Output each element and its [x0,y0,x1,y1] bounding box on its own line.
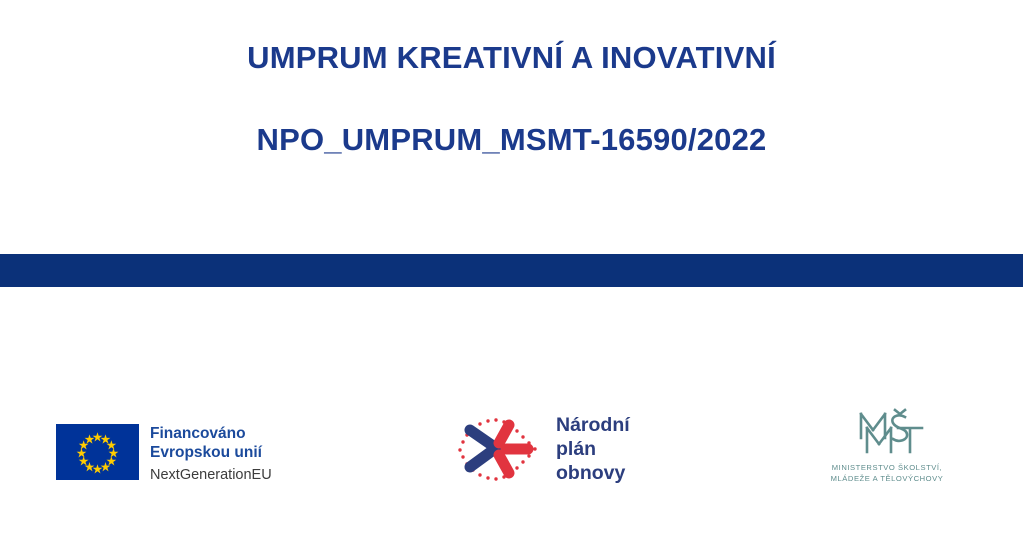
msmt-logo-text: MINISTERSTVO ŠKOLSTVÍ, MLÁDEŽE A TĚLOVÝC… [824,462,950,484]
blue-divider-band [0,254,1023,287]
npo-logo-text: Národní plán obnovy [556,414,630,485]
msmt-monogram-icon [824,408,950,458]
narodni-plan-obnovy-logo: Národní plán obnovy [452,412,630,488]
msmt-ministry-logo: MINISTERSTVO ŠKOLSTVÍ, MLÁDEŽE A TĚLOVÝC… [824,408,950,484]
eu-logo-text: Financováno Evropskou unií NextGeneratio… [150,424,272,485]
npo-logo-line-3: obnovy [556,462,630,486]
eu-logo-line-2: Evropskou unií [150,444,272,463]
funding-logo-strip: Financováno Evropskou unií NextGeneratio… [0,396,1023,506]
eu-logo-line-3: NextGenerationEU [150,466,272,485]
npo-arrow-mark-icon [452,412,548,488]
eu-logo-line-1: Financováno [150,425,272,444]
eu-flag-icon [56,424,139,480]
slide-title-line-1: UMPRUM KREATIVNÍ A INOVATIVNÍ [0,40,1023,76]
npo-logo-line-1: Národní [556,414,630,438]
european-union-funding-logo: Financováno Evropskou unií NextGeneratio… [56,424,272,485]
msmt-logo-line-2: MLÁDEŽE A TĚLOVÝCHOVY [824,473,950,484]
msmt-logo-line-1: MINISTERSTVO ŠKOLSTVÍ, [824,462,950,473]
npo-logo-line-2: plán [556,438,630,462]
slide-title-block: UMPRUM KREATIVNÍ A INOVATIVNÍ NPO_UMPRUM… [0,40,1023,157]
presentation-slide: UMPRUM KREATIVNÍ A INOVATIVNÍ NPO_UMPRUM… [0,0,1023,540]
slide-title-line-2: NPO_UMPRUM_MSMT-16590/2022 [0,122,1023,158]
